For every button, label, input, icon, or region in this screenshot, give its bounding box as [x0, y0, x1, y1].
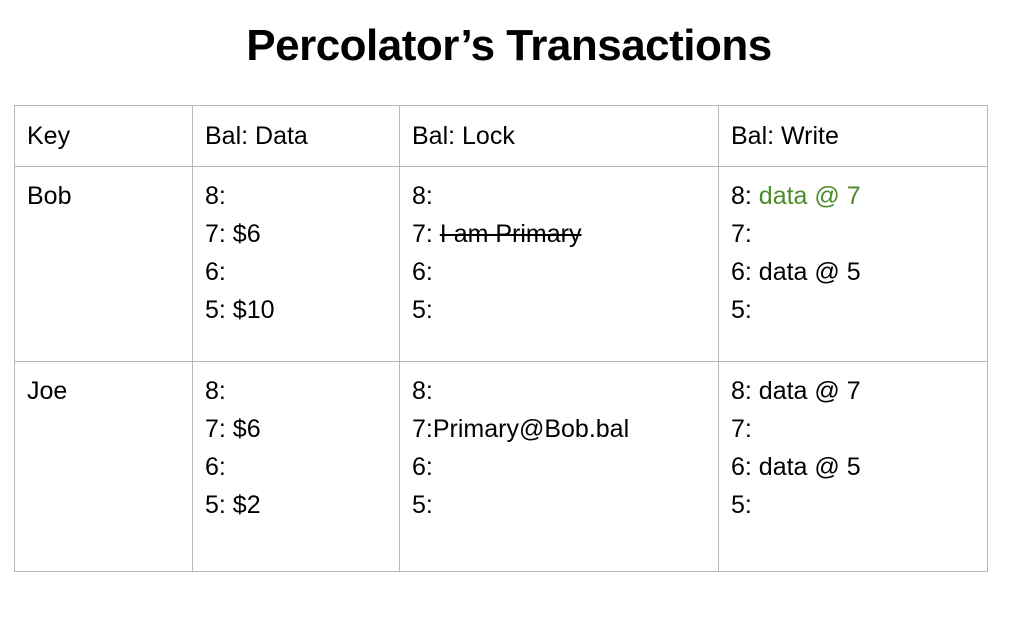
slide: Percolator’s Transactions Key Bal: Data … [0, 0, 1018, 624]
lock-lines: 8:7:Primary@Bob.bal6:5: [412, 372, 718, 524]
data-lines: 8:7: $66:5: $10 [205, 177, 399, 329]
cell-line-value: I am Primary [440, 220, 582, 248]
cell-line-prefix: 8: [412, 182, 433, 210]
cell-line: 8: [205, 177, 399, 215]
cell-line: 5: [731, 486, 987, 524]
cell-data: 8:7: $66:5: $10 [193, 167, 400, 362]
write-lines: 8: data @ 77:6: data @ 55: [731, 177, 987, 329]
cell-line-prefix: 7: [731, 220, 752, 248]
cell-line: 7:Primary@Bob.bal [412, 410, 718, 448]
cell-line-value: data @ 7 [759, 377, 861, 405]
cell-line-prefix: 6: [731, 258, 759, 286]
data-lines: 8:7: $66:5: $2 [205, 372, 399, 524]
cell-line-value: Primary@Bob.bal [433, 415, 629, 443]
column-header-write: Bal: Write [719, 106, 988, 167]
table-row: Bob 8:7: $66:5: $10 8:7: I am Primary6:5… [15, 167, 988, 362]
cell-line: 7: I am Primary [412, 215, 718, 253]
cell-write: 8: data @ 77:6: data @ 55: [719, 167, 988, 362]
table-header-row: Key Bal: Data Bal: Lock Bal: Write [15, 106, 988, 167]
cell-key: Joe [15, 362, 193, 572]
cell-line: 8: [412, 372, 718, 410]
cell-line: 5: $2 [205, 486, 399, 524]
cell-key: Bob [15, 167, 193, 362]
cell-line-prefix: 5: [412, 296, 433, 324]
cell-line: 6: [205, 448, 399, 486]
cell-line: 7: $6 [205, 215, 399, 253]
cell-data: 8:7: $66:5: $2 [193, 362, 400, 572]
cell-line-prefix: 8: [731, 377, 759, 405]
cell-line: 6: [205, 253, 399, 291]
column-header-lock: Bal: Lock [400, 106, 719, 167]
page-title: Percolator’s Transactions [0, 22, 1018, 70]
table-body: Key Bal: Data Bal: Lock Bal: Write Bob 8… [15, 106, 988, 572]
cell-line: 6: [412, 253, 718, 291]
cell-line-value: data @ 5 [759, 258, 861, 286]
cell-line-prefix: 5: [731, 491, 752, 519]
cell-line: 5: [412, 486, 718, 524]
cell-line: 8: [412, 177, 718, 215]
cell-line: 5: [731, 291, 987, 329]
cell-line: 7: [731, 215, 987, 253]
cell-line: 6: data @ 5 [731, 448, 987, 486]
cell-write: 8: data @ 77:6: data @ 55: [719, 362, 988, 572]
cell-line-prefix: 6: [412, 258, 433, 286]
write-lines: 8: data @ 77:6: data @ 55: [731, 372, 987, 524]
column-header-key: Key [15, 106, 193, 167]
transactions-table-container: Key Bal: Data Bal: Lock Bal: Write Bob 8… [14, 105, 987, 572]
cell-line-prefix: 5: [412, 491, 433, 519]
cell-line-prefix: 7: [412, 220, 440, 248]
cell-line-prefix: 8: [731, 182, 759, 210]
cell-lock: 8:7:Primary@Bob.bal6:5: [400, 362, 719, 572]
cell-lock: 8:7: I am Primary6:5: [400, 167, 719, 362]
cell-line: 7: [731, 410, 987, 448]
cell-line-prefix: 6: [412, 453, 433, 481]
cell-line: 6: data @ 5 [731, 253, 987, 291]
cell-line-prefix: 6: [731, 453, 759, 481]
cell-line: 5: $10 [205, 291, 399, 329]
cell-line: 6: [412, 448, 718, 486]
cell-line: 8: [205, 372, 399, 410]
cell-line: 5: [412, 291, 718, 329]
cell-line-prefix: 7: [412, 415, 433, 443]
cell-line: 8: data @ 7 [731, 372, 987, 410]
lock-lines: 8:7: I am Primary6:5: [412, 177, 718, 329]
cell-line-prefix: 7: [731, 415, 752, 443]
column-header-data: Bal: Data [193, 106, 400, 167]
transactions-table: Key Bal: Data Bal: Lock Bal: Write Bob 8… [14, 105, 988, 572]
cell-line-prefix: 5: [731, 296, 752, 324]
cell-line-prefix: 8: [412, 377, 433, 405]
cell-line-value: data @ 5 [759, 453, 861, 481]
cell-line: 8: data @ 7 [731, 177, 987, 215]
table-row: Joe 8:7: $66:5: $2 8:7:Primary@Bob.bal6:… [15, 362, 988, 572]
cell-line-value: data @ 7 [759, 182, 861, 210]
cell-line: 7: $6 [205, 410, 399, 448]
